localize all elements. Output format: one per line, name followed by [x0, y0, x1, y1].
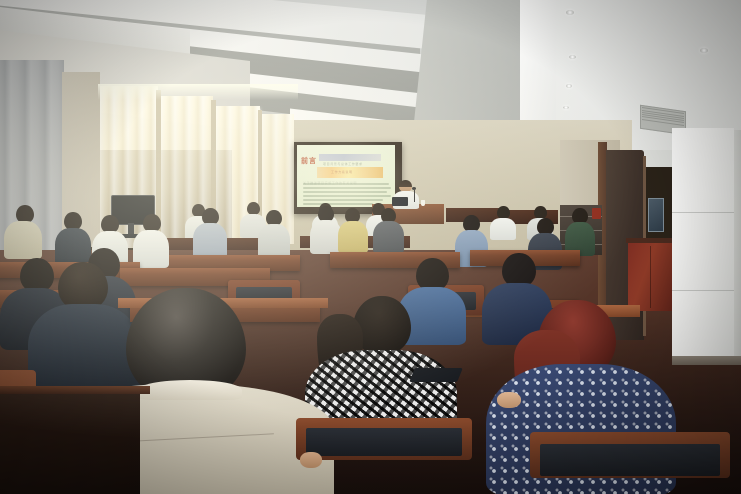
conference-room-photo: 前言 项目背景与总体工作要求 工作方案说明 关于推进项目实施工作的有关说明 [0, 0, 741, 494]
vignette [0, 0, 741, 494]
